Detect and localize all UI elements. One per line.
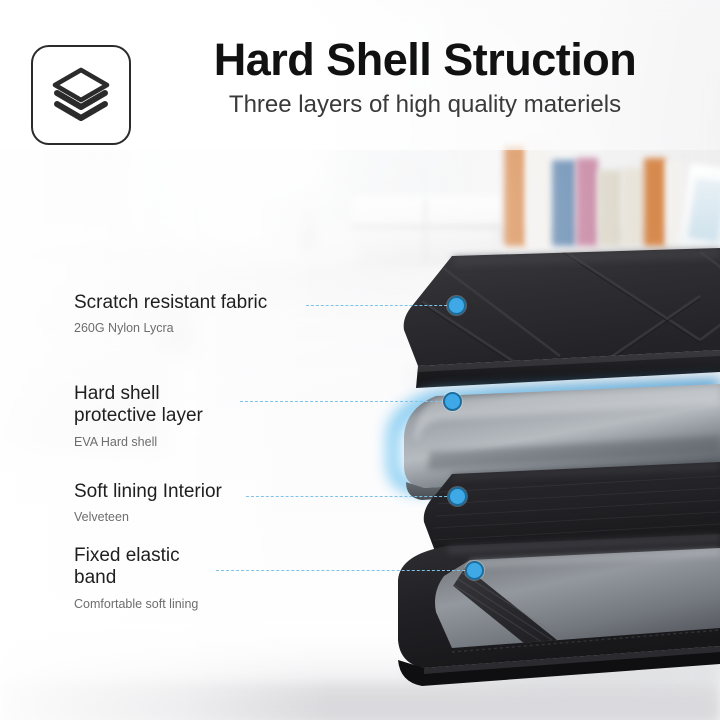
page-title: Hard Shell Struction [160, 36, 690, 84]
callout-subtitle: 260G Nylon Lycra [74, 321, 374, 335]
infographic-canvas: Hard Shell Struction Three layers of hig… [0, 0, 720, 720]
callout-subtitle: Velveteen [74, 510, 374, 524]
callout-subtitle: Comfortable soft lining [74, 597, 374, 611]
callout-marker-fixed-elastic-band[interactable] [465, 561, 484, 580]
layers-stack-icon [31, 45, 131, 145]
callout-subtitle: EVA Hard shell [74, 435, 374, 449]
callout-marker-soft-lining-interior[interactable] [448, 487, 467, 506]
callout-title: Soft lining Interior [74, 481, 374, 503]
callout-title: Fixed elastic band [74, 545, 374, 590]
elastic-band-layer [398, 534, 720, 686]
callout-marker-hard-shell-protective-layer[interactable] [443, 392, 462, 411]
page-subtitle: Three layers of high quality materiels [160, 90, 690, 120]
leader-line-hard-shell-protective-layer [240, 401, 448, 402]
leader-line-scratch-resistant-fabric [306, 305, 452, 306]
header-band: Hard Shell Struction Three layers of hig… [0, 0, 720, 150]
callout-soft-lining-interior: Soft lining Interior Velveteen [74, 481, 374, 524]
callout-scratch-resistant-fabric: Scratch resistant fabric 260G Nylon Lycr… [74, 292, 374, 335]
leader-line-fixed-elastic-band [216, 570, 470, 571]
header-text-block: Hard Shell Struction Three layers of hig… [160, 36, 690, 120]
callout-hard-shell-protective-layer: Hard shell protective layer EVA Hard she… [74, 383, 374, 449]
callout-fixed-elastic-band: Fixed elastic band Comfortable soft lini… [74, 545, 374, 611]
callout-title: Scratch resistant fabric [74, 292, 374, 314]
callout-marker-scratch-resistant-fabric[interactable] [447, 296, 466, 315]
outer-fabric-layer [404, 248, 720, 395]
callout-title: Hard shell protective layer [74, 383, 374, 428]
leader-line-soft-lining-interior [246, 496, 452, 497]
